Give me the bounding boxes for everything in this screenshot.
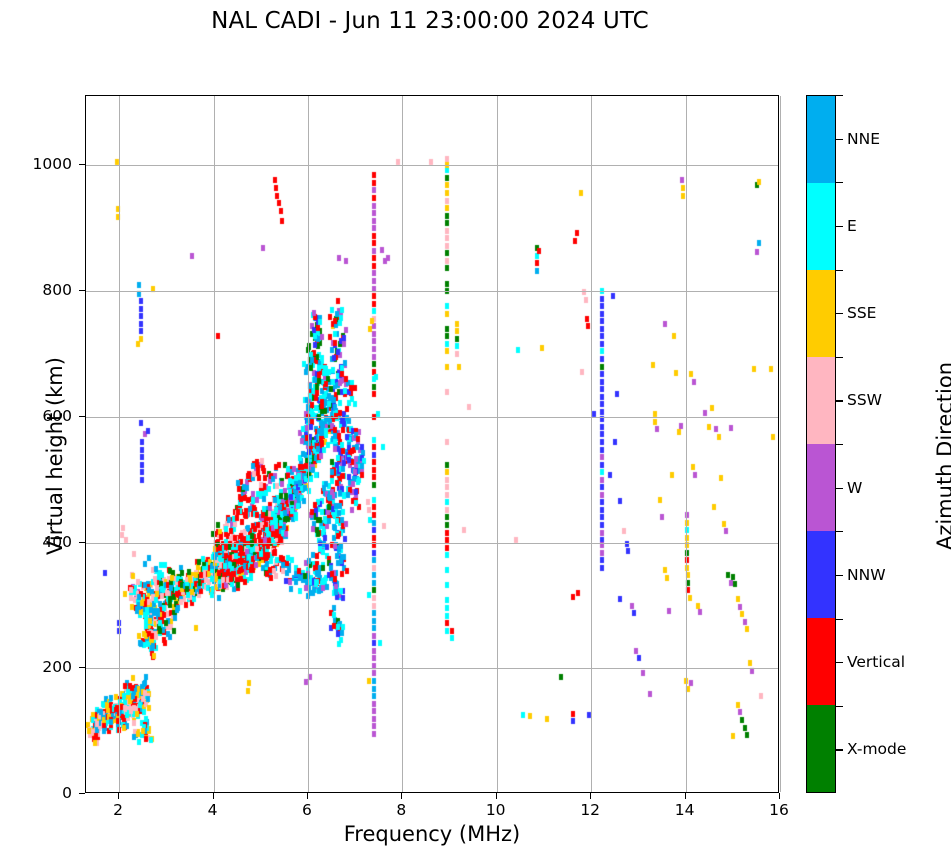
colorbar-segment-sse [807, 270, 835, 357]
y-tick-label: 800 [12, 281, 72, 299]
y-tick [79, 793, 85, 794]
colorbar-boundary-tick [836, 706, 843, 707]
colorbar-boundary-tick [836, 270, 843, 271]
colorbar-boundary-tick [836, 444, 843, 445]
y-tick [79, 164, 85, 165]
colorbar-tick [836, 662, 843, 663]
y-tick [79, 542, 85, 543]
x-tick-label: 14 [675, 801, 695, 819]
x-tick-label: 10 [486, 801, 506, 819]
colorbar-label-w: W [847, 479, 862, 497]
colorbar-label-vertical: Vertical [847, 653, 905, 671]
colorbar-segment-e [807, 183, 835, 270]
x-tick-label: 2 [113, 801, 123, 819]
y-tick [79, 290, 85, 291]
y-axis-title: Virtual height (km) [43, 306, 67, 606]
colorbar-boundary-tick [836, 95, 843, 96]
ionogram-page: NAL CADI - Jun 11 23:00:00 2024 UTC 2468… [0, 0, 951, 856]
plot-area [85, 95, 779, 793]
colorbar-label-nne: NNE [847, 130, 880, 148]
x-tick [685, 793, 686, 799]
x-axis-title: Frequency (MHz) [85, 822, 779, 846]
x-tick [118, 793, 119, 799]
colorbar-title: Azimuth Direction [933, 306, 951, 606]
y-tick [79, 416, 85, 417]
x-tick [213, 793, 214, 799]
colorbar-segment-nne [807, 96, 835, 183]
colorbar-boundary-tick [836, 619, 843, 620]
colorbar-segment-vertical [807, 618, 835, 705]
colorbar-segment-nnw [807, 531, 835, 618]
colorbar-tick [836, 400, 843, 401]
colorbar-segment-ssw [807, 357, 835, 444]
page-title: NAL CADI - Jun 11 23:00:00 2024 UTC [0, 8, 860, 34]
y-tick-label: 0 [12, 784, 72, 802]
colorbar-label-sse: SSE [847, 304, 876, 322]
colorbar-label-ssw: SSW [847, 391, 882, 409]
colorbar-tick [836, 139, 843, 140]
colorbar [806, 95, 836, 793]
x-tick-label: 12 [580, 801, 600, 819]
x-tick-label: 4 [208, 801, 218, 819]
colorbar-segment-x-mode [807, 705, 835, 792]
x-tick-label: 6 [302, 801, 312, 819]
colorbar-label-e: E [847, 217, 857, 235]
colorbar-tick [836, 313, 843, 314]
x-tick [590, 793, 591, 799]
colorbar-tick [836, 575, 843, 576]
colorbar-boundary-tick [836, 531, 843, 532]
x-tick-label: 16 [769, 801, 789, 819]
colorbar-tick [836, 488, 843, 489]
colorbar-label-nnw: NNW [847, 566, 886, 584]
colorbar-segment-w [807, 444, 835, 531]
colorbar-tick [836, 226, 843, 227]
gridline-vertical [780, 96, 781, 792]
ionogram-scatter-canvas [86, 96, 780, 794]
x-tick [779, 793, 780, 799]
x-tick-label: 8 [396, 801, 406, 819]
y-tick-label: 1000 [12, 155, 72, 173]
x-tick [307, 793, 308, 799]
y-tick [79, 667, 85, 668]
x-tick [401, 793, 402, 799]
colorbar-tick [836, 749, 843, 750]
colorbar-boundary-tick [836, 182, 843, 183]
x-tick [496, 793, 497, 799]
y-tick-label: 200 [12, 658, 72, 676]
colorbar-label-x-mode: X-mode [847, 740, 906, 758]
colorbar-boundary-tick [836, 357, 843, 358]
